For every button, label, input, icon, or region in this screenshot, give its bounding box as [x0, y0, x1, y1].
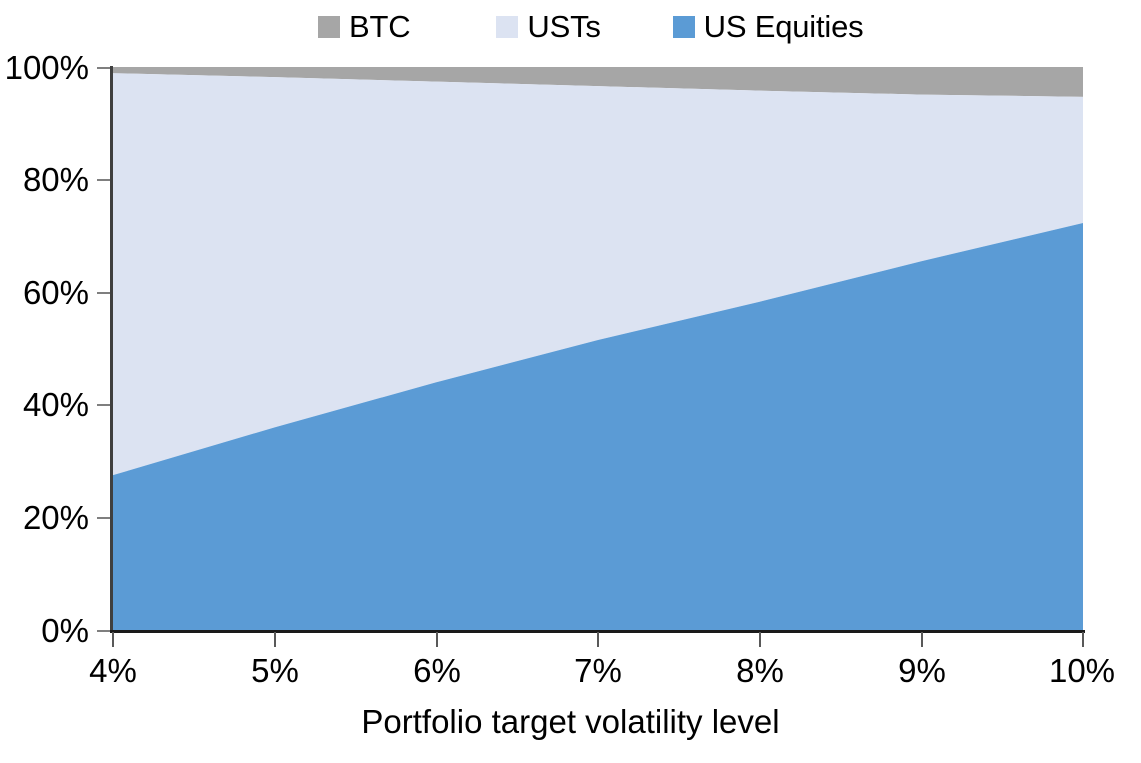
x-tick-mark-10 [1082, 632, 1084, 647]
legend-swatch-us-equities [673, 16, 695, 38]
legend-entry-usts[interactable]: USTs [496, 11, 600, 42]
x-tick-mark-5 [274, 632, 276, 647]
plot-area [113, 67, 1083, 630]
y-tick-mark-60 [97, 292, 111, 294]
legend-entry-us-equities[interactable]: US Equities [673, 11, 864, 42]
x-tick-mark-9 [921, 632, 923, 647]
x-tick-mark-7 [597, 632, 599, 647]
legend-label-btc: BTC [349, 11, 410, 42]
y-tick-label-60: 60% [23, 276, 89, 309]
x-tick-label-6: 6% [412, 654, 462, 687]
y-tick-mark-40 [97, 404, 111, 406]
x-tick-label-7: 7% [573, 654, 623, 687]
y-axis-line [110, 66, 113, 632]
x-tick-mark-8 [759, 632, 761, 647]
y-tick-label-20: 20% [23, 501, 89, 534]
legend-swatch-btc [318, 16, 340, 38]
chart-figure: BTC USTs US Equities 100% 80% 60% 40% 20… [0, 0, 1141, 763]
x-tick-label-5: 5% [250, 654, 300, 687]
legend-label-us-equities: US Equities [704, 11, 864, 42]
y-tick-mark-20 [97, 517, 111, 519]
y-tick-mark-100 [97, 67, 111, 69]
legend-label-usts: USTs [527, 11, 600, 42]
x-tick-label-10: 10% [1048, 654, 1116, 687]
chart-legend: BTC USTs US Equities [318, 4, 918, 48]
x-tick-mark-6 [436, 632, 438, 647]
y-tick-label-80: 80% [23, 163, 89, 196]
x-axis-title: Portfolio target volatility level [0, 705, 1141, 738]
y-tick-label-40: 40% [23, 388, 89, 421]
x-tick-mark-4 [112, 632, 114, 647]
y-tick-label-0: 0% [41, 614, 89, 647]
stacked-area-svg [113, 67, 1083, 630]
x-tick-label-4: 4% [88, 654, 138, 687]
legend-swatch-usts [496, 16, 518, 38]
y-tick-mark-0 [97, 630, 111, 632]
y-tick-label-100: 100% [5, 51, 89, 84]
x-tick-label-8: 8% [735, 654, 785, 687]
legend-entry-btc[interactable]: BTC [318, 11, 410, 42]
y-tick-mark-80 [97, 179, 111, 181]
x-tick-label-9: 9% [897, 654, 947, 687]
